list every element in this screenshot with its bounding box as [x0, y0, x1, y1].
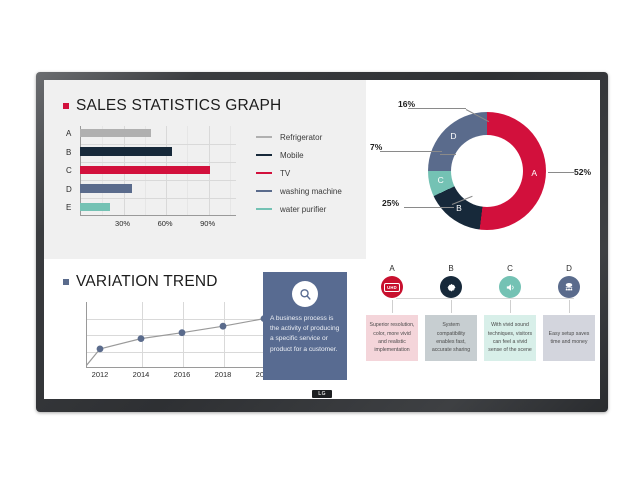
donut-slice-label: A	[531, 168, 537, 178]
monitor-device: SALES STATISTICS GRAPH ABCDE 30%60%90% R…	[36, 72, 608, 412]
magnifier-icon	[292, 281, 318, 307]
donut-percentage-label: 25%	[382, 198, 399, 208]
x-axis-tick-label: 90%	[200, 219, 215, 228]
feature-card-c[interactable]: CWith vivid sound techniques, visitors c…	[484, 264, 536, 361]
bar-fill	[80, 147, 172, 156]
donut-slice-label: C	[438, 175, 444, 185]
bar-chart: ABCDE	[66, 126, 236, 216]
x-axis-tick-label: 2012	[92, 370, 109, 379]
variation-trend-title: VARIATION TREND	[63, 273, 218, 291]
donut-leader-line	[408, 108, 466, 109]
data-point	[138, 335, 145, 342]
bar-row: A	[66, 126, 236, 141]
bar-track	[80, 163, 236, 178]
donut-leader-line	[380, 151, 442, 152]
feature-stem	[569, 300, 570, 313]
donut-leader-line	[404, 207, 454, 208]
monitor-screen: SALES STATISTICS GRAPH ABCDE 30%60%90% R…	[44, 80, 600, 399]
bar-fill	[80, 184, 132, 193]
line-chart: 20122014201620182020	[86, 302, 276, 382]
data-point	[179, 329, 186, 336]
donut-chart	[428, 112, 546, 230]
x-axis-tick-label: 60%	[158, 219, 173, 228]
bar-category-label: E	[66, 203, 80, 212]
bar-fill	[80, 129, 151, 138]
x-axis-tick-label: 2014	[133, 370, 150, 379]
title-bullet-icon	[63, 279, 69, 285]
bar-row: D	[66, 182, 236, 197]
feature-card-text: With vivid sound techniques, visitors ca…	[484, 315, 536, 361]
business-process-callout: A business process is the activity of pr…	[263, 272, 347, 380]
feature-card-d[interactable]: DEasy setup saves time and money	[543, 264, 595, 361]
feature-card-b[interactable]: BSystem compatibility enables fast, accu…	[425, 264, 477, 361]
legend-label: water purifier	[280, 205, 326, 214]
donut-slice-label: B	[456, 203, 462, 213]
bar-category-label: B	[66, 148, 80, 157]
bar-row: E	[66, 200, 236, 215]
feature-letter-label: D	[543, 264, 595, 273]
cloud-network-icon	[558, 276, 580, 298]
feature-cards-row: AUHDSuperior resolution, color, more viv…	[366, 264, 600, 386]
feature-card-text: Easy setup saves time and money	[543, 315, 595, 361]
trend-line	[86, 319, 264, 366]
title-bullet-icon	[63, 103, 69, 109]
x-axis-tick-label: 30%	[115, 219, 130, 228]
x-axis-tick-label: 2018	[215, 370, 232, 379]
x-axis-tick-label: 2016	[174, 370, 191, 379]
legend-item: water purifier	[256, 200, 356, 218]
bar-fill	[80, 166, 210, 175]
business-process-text: A business process is the activity of pr…	[270, 314, 340, 355]
lg-brand-logo: LG	[312, 390, 332, 398]
legend-item: Refrigerator	[256, 128, 356, 146]
legend-swatch	[256, 190, 272, 193]
bar-chart-legend: RefrigeratorMobileTVwashing machinewater…	[256, 128, 356, 218]
gear-icon	[440, 276, 462, 298]
bar-row: B	[66, 145, 236, 160]
bar-fill	[80, 203, 110, 212]
feature-card-a[interactable]: AUHDSuperior resolution, color, more viv…	[366, 264, 418, 361]
sales-statistics-title: SALES STATISTICS GRAPH	[63, 97, 281, 115]
donut-chart-container: ABCD52%16%7%25%	[366, 94, 600, 262]
feature-stem	[392, 300, 393, 313]
line-chart-x-axis-labels: 20122014201620182020	[86, 370, 276, 382]
legend-label: Refrigerator	[280, 133, 322, 142]
bar-category-label: A	[66, 129, 80, 138]
bar-row: C	[66, 163, 236, 178]
feature-card-text: Superior resolution, color, more vivid a…	[366, 315, 418, 361]
bar-track	[80, 126, 236, 141]
feature-letter-label: C	[484, 264, 536, 273]
legend-item: TV	[256, 164, 356, 182]
donut-percentage-label: 52%	[574, 167, 591, 177]
sales-statistics-title-text: SALES STATISTICS GRAPH	[76, 97, 281, 115]
legend-swatch	[256, 136, 272, 139]
legend-label: TV	[280, 169, 290, 178]
data-point	[220, 323, 227, 330]
legend-swatch	[256, 154, 272, 157]
legend-swatch	[256, 208, 272, 211]
donut-slice-label: D	[450, 131, 456, 141]
variation-trend-title-text: VARIATION TREND	[76, 273, 218, 291]
bar-track	[80, 145, 236, 160]
donut-leader-line	[548, 172, 574, 173]
feature-letter-label: A	[366, 264, 418, 273]
feature-stem	[451, 300, 452, 313]
feature-letter-label: B	[425, 264, 477, 273]
line-chart-plot	[86, 302, 276, 368]
feature-card-text: System compatibility enables fast, accur…	[425, 315, 477, 361]
donut-hole	[451, 135, 523, 207]
bar-category-label: C	[66, 166, 80, 175]
legend-swatch	[256, 172, 272, 175]
speaker-icon	[499, 276, 521, 298]
legend-item: washing machine	[256, 182, 356, 200]
bar-track	[80, 200, 236, 215]
uhd-badge-label: UHD	[384, 283, 400, 292]
bar-chart-x-axis-labels: 30%60%90%	[80, 219, 236, 231]
feature-stem	[510, 300, 511, 313]
donut-leader-line	[440, 154, 456, 155]
uhd-badge-icon: UHD	[381, 276, 403, 298]
legend-label: washing machine	[280, 187, 342, 196]
bar-category-label: D	[66, 185, 80, 194]
data-point	[97, 345, 104, 352]
legend-label: Mobile	[280, 151, 304, 160]
legend-item: Mobile	[256, 146, 356, 164]
bar-track	[80, 182, 236, 197]
